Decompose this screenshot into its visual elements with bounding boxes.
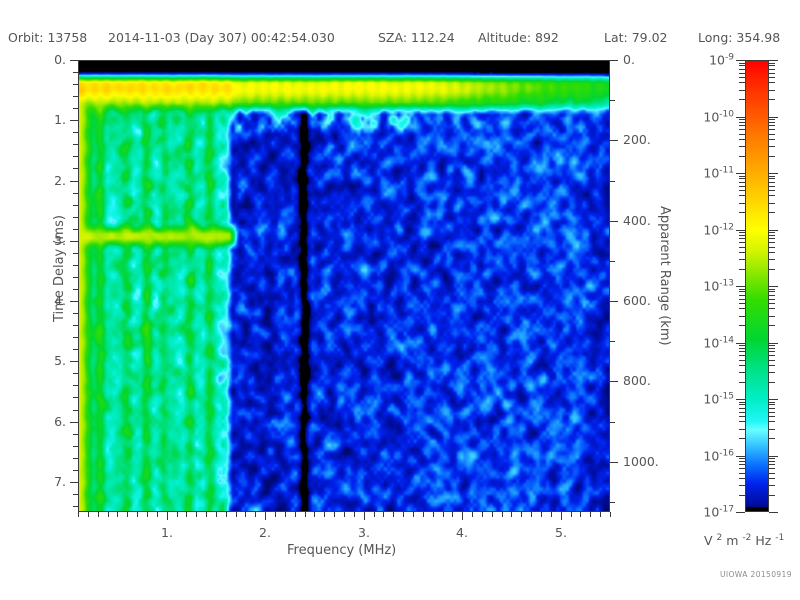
x-tick-minor xyxy=(383,512,384,517)
y-axis-time-delay: Time Delay (ms) 0.1.2.3.4.5.6.7. xyxy=(78,60,79,512)
x-tick-minor xyxy=(324,512,325,517)
colorbar-tick-minor xyxy=(769,252,775,253)
colorbar-tick-minor xyxy=(769,382,775,383)
y2-axis-label: Apparent Range (km) xyxy=(657,206,672,346)
y-tick-minor xyxy=(73,446,78,447)
colorbar-tick-minor xyxy=(739,295,745,296)
colorbar-tick-label: 10-12 xyxy=(703,222,734,237)
colorbar-tick-minor xyxy=(769,295,775,296)
y2-tick-minor xyxy=(610,422,615,423)
colorbar-tick-major xyxy=(769,173,778,174)
colorbar-tick-minor xyxy=(739,122,745,123)
colorbar-tick-label: 10-14 xyxy=(703,335,734,350)
y-tick-minor xyxy=(73,205,78,206)
y-tick-minor xyxy=(73,325,78,326)
x-tick-minor xyxy=(88,512,89,517)
x-tick-minor xyxy=(443,512,444,517)
colorbar-tick-minor xyxy=(739,412,745,413)
colorbar-tick-minor xyxy=(739,408,745,409)
colorbar-tick-minor xyxy=(769,82,775,83)
y-tick-label: 4. xyxy=(32,293,66,308)
colorbar-tick-minor xyxy=(769,473,775,474)
x-tick-minor xyxy=(117,512,118,517)
y-tick-minor xyxy=(73,397,78,398)
colorbar-tick-minor xyxy=(739,119,745,120)
x-tick-minor xyxy=(433,512,434,517)
y2-tick-label: 800. xyxy=(623,373,651,388)
colorbar-tick-major xyxy=(769,117,778,118)
colorbar-tick-minor xyxy=(739,139,745,140)
colorbar-tick-minor xyxy=(769,355,775,356)
colorbar-tick-minor xyxy=(769,461,775,462)
y2-tick-label: 0. xyxy=(623,52,635,67)
colorbar-tick-minor xyxy=(739,65,745,66)
x-tick-minor xyxy=(186,512,187,517)
x-tick-minor xyxy=(423,512,424,517)
colorbar-tick-minor xyxy=(769,63,775,64)
colorbar-tick-minor xyxy=(769,242,775,243)
x-tick-minor xyxy=(413,512,414,517)
colorbar-tick-minor xyxy=(739,252,745,253)
x-tick-minor xyxy=(590,512,591,517)
x-tick-minor xyxy=(98,512,99,517)
x-tick-minor xyxy=(157,512,158,517)
y2-tick-major xyxy=(610,462,618,463)
colorbar-tick-minor xyxy=(739,176,745,177)
colorbar-tick-minor xyxy=(769,119,775,120)
x-tick-minor xyxy=(492,512,493,517)
colorbar: 10-910-1010-1110-1210-1310-1410-1510-161… xyxy=(745,60,769,512)
y-tick-minor xyxy=(73,132,78,133)
x-tick-minor xyxy=(255,512,256,517)
x-tick-minor xyxy=(127,512,128,517)
header-latitude: Lat: 79.02 xyxy=(604,30,668,45)
y-tick-major xyxy=(70,60,78,61)
x-tick-minor xyxy=(245,512,246,517)
colorbar-tick-minor xyxy=(769,325,775,326)
x-tick-minor xyxy=(610,512,611,517)
x-tick-minor xyxy=(452,512,453,517)
colorbar-tick-label: 10-16 xyxy=(703,448,734,463)
y-tick-minor xyxy=(73,168,78,169)
colorbar-tick-minor xyxy=(769,190,775,191)
y-tick-major xyxy=(70,301,78,302)
colorbar-tick-minor xyxy=(739,345,745,346)
x-tick-minor xyxy=(531,512,532,517)
colorbar-tick-minor xyxy=(769,345,775,346)
colorbar-tick-minor xyxy=(769,186,775,187)
colorbar-tick-minor xyxy=(769,134,775,135)
y2-tick-major xyxy=(610,381,618,382)
x-tick-minor xyxy=(521,512,522,517)
colorbar-tick-minor xyxy=(739,90,745,91)
metadata-header: Orbit: 13758 2014-11-03 (Day 307) 00:42:… xyxy=(0,30,800,48)
x-tick-minor xyxy=(334,512,335,517)
colorbar-tick-minor xyxy=(739,247,745,248)
colorbar-tick-minor xyxy=(769,404,775,405)
colorbar-tick-major xyxy=(769,399,778,400)
colorbar-tick-minor xyxy=(769,156,775,157)
y-tick-label: 7. xyxy=(32,474,66,489)
colorbar-tick-major xyxy=(736,230,745,231)
colorbar-tick-minor xyxy=(739,186,745,187)
y2-tick-minor xyxy=(610,341,615,342)
colorbar-tick-minor xyxy=(769,90,775,91)
colorbar-tick-minor xyxy=(739,360,745,361)
colorbar-tick-major xyxy=(736,343,745,344)
y2-tick-minor xyxy=(610,261,615,262)
colorbar-tick-label: 10-13 xyxy=(703,278,734,293)
colorbar-tick-minor xyxy=(769,412,775,413)
colorbar-tick-major xyxy=(769,343,778,344)
colorbar-tick-minor xyxy=(739,195,745,196)
colorbar-tick-minor xyxy=(739,316,745,317)
colorbar-tick-minor xyxy=(739,182,745,183)
colorbar-tick-minor xyxy=(739,291,745,292)
colorbar-tick-minor xyxy=(769,348,775,349)
colorbar-tick-minor xyxy=(769,365,775,366)
colorbar-tick-minor xyxy=(739,259,745,260)
colorbar-tick-minor xyxy=(769,77,775,78)
y-tick-major xyxy=(70,482,78,483)
x-tick-label: 5. xyxy=(549,525,573,540)
colorbar-tick-minor xyxy=(739,232,745,233)
x-tick-minor xyxy=(511,512,512,517)
y-tick-minor xyxy=(73,349,78,350)
colorbar-tick-minor xyxy=(739,63,745,64)
colorbar-tick-minor xyxy=(769,316,775,317)
colorbar-tick-minor xyxy=(739,351,745,352)
colorbar-tick-minor xyxy=(739,478,745,479)
colorbar-tick-label: 10-17 xyxy=(703,504,734,519)
x-tick-minor xyxy=(305,512,306,517)
colorbar-tick-minor xyxy=(769,195,775,196)
y-tick-minor xyxy=(73,458,78,459)
header-altitude: Altitude: 892 xyxy=(478,30,559,45)
y-tick-major xyxy=(70,120,78,121)
colorbar-tick-major xyxy=(769,512,778,513)
x-tick-major xyxy=(561,512,562,520)
x-tick-minor xyxy=(226,512,227,517)
colorbar-tick-minor xyxy=(739,402,745,403)
y-tick-minor xyxy=(73,337,78,338)
colorbar-tick-label: 10-10 xyxy=(703,109,734,124)
colorbar-tick-major xyxy=(736,399,745,400)
y-tick-minor xyxy=(73,108,78,109)
y-tick-minor xyxy=(73,84,78,85)
colorbar-tick-minor xyxy=(769,458,775,459)
y2-tick-major xyxy=(610,60,618,61)
colorbar-tick-minor xyxy=(739,69,745,70)
y-tick-minor xyxy=(73,434,78,435)
x-tick-minor xyxy=(206,512,207,517)
colorbar-tick-minor xyxy=(769,485,775,486)
y-tick-minor xyxy=(73,193,78,194)
x-tick-label: 3. xyxy=(352,525,376,540)
colorbar-tick-minor xyxy=(769,73,775,74)
colorbar-tick-minor xyxy=(739,146,745,147)
colorbar-tick-minor xyxy=(739,99,745,100)
colorbar-tick-minor xyxy=(739,156,745,157)
y2-tick-minor xyxy=(610,100,615,101)
colorbar-tick-label: 10-15 xyxy=(703,391,734,406)
colorbar-tick-minor xyxy=(739,303,745,304)
y-tick-minor xyxy=(73,470,78,471)
colorbar-tick-minor xyxy=(739,129,745,130)
colorbar-tick-minor xyxy=(739,458,745,459)
colorbar-tick-major xyxy=(736,60,745,61)
colorbar-tick-minor xyxy=(739,203,745,204)
x-tick-minor xyxy=(314,512,315,517)
colorbar-tick-minor xyxy=(769,182,775,183)
colorbar-tick-major xyxy=(736,512,745,513)
y2-tick-minor xyxy=(610,502,615,503)
x-tick-label: 4. xyxy=(450,525,474,540)
y-tick-label: 1. xyxy=(32,112,66,127)
colorbar-tick-minor xyxy=(739,289,745,290)
colorbar-tick-minor xyxy=(769,360,775,361)
y-tick-label: 3. xyxy=(32,233,66,248)
colorbar-tick-minor xyxy=(769,125,775,126)
colorbar-tick-minor xyxy=(769,122,775,123)
header-orbit: Orbit: 13758 xyxy=(8,30,87,45)
colorbar-tick-minor xyxy=(739,464,745,465)
colorbar-tick-minor xyxy=(739,365,745,366)
colorbar-tick-minor xyxy=(769,235,775,236)
colorbar-tick-minor xyxy=(769,259,775,260)
y-tick-minor xyxy=(73,289,78,290)
y-tick-minor xyxy=(73,277,78,278)
colorbar-tick-minor xyxy=(739,468,745,469)
colorbar-tick-minor xyxy=(739,325,745,326)
colorbar-tick-minor xyxy=(739,212,745,213)
x-tick-minor xyxy=(502,512,503,517)
x-axis-frequency: 1.2.3.4.5. xyxy=(78,512,610,513)
x-tick-label: 2. xyxy=(253,525,277,540)
colorbar-tick-minor xyxy=(739,299,745,300)
colorbar-gradient xyxy=(745,60,769,512)
colorbar-tick-minor xyxy=(739,372,745,373)
x-tick-minor xyxy=(78,512,79,517)
y-tick-minor xyxy=(73,144,78,145)
colorbar-tick-minor xyxy=(739,495,745,496)
colorbar-tick-minor xyxy=(739,242,745,243)
colorbar-tick-minor xyxy=(739,308,745,309)
colorbar-tick-minor xyxy=(739,404,745,405)
y-tick-major xyxy=(70,361,78,362)
y2-tick-major xyxy=(610,301,618,302)
colorbar-tick-minor xyxy=(739,134,745,135)
colorbar-tick-label: 10-9 xyxy=(709,52,734,67)
colorbar-tick-major xyxy=(769,60,778,61)
y-tick-label: 0. xyxy=(32,52,66,67)
colorbar-tick-minor xyxy=(739,473,745,474)
x-tick-minor xyxy=(541,512,542,517)
x-tick-minor xyxy=(482,512,483,517)
x-tick-minor xyxy=(216,512,217,517)
y2-tick-label: 200. xyxy=(623,132,651,147)
y-tick-minor xyxy=(73,410,78,411)
x-tick-minor xyxy=(177,512,178,517)
x-tick-minor xyxy=(571,512,572,517)
colorbar-black-cap xyxy=(745,507,769,512)
colorbar-tick-minor xyxy=(739,348,745,349)
colorbar-tick-minor xyxy=(769,429,775,430)
colorbar-tick-major xyxy=(769,230,778,231)
y2-tick-minor xyxy=(610,181,615,182)
y-tick-label: 6. xyxy=(32,414,66,429)
colorbar-tick-minor xyxy=(739,238,745,239)
colorbar-tick-minor xyxy=(739,190,745,191)
header-datetime: 2014-11-03 (Day 307) 00:42:54.030 xyxy=(108,30,335,45)
colorbar-tick-major xyxy=(736,117,745,118)
colorbar-tick-minor xyxy=(739,485,745,486)
y-tick-minor xyxy=(73,373,78,374)
x-tick-major xyxy=(265,512,266,520)
colorbar-tick-minor xyxy=(769,308,775,309)
x-tick-minor xyxy=(275,512,276,517)
colorbar-tick-minor xyxy=(769,402,775,403)
ionogram-plot-area xyxy=(78,60,610,512)
y-tick-minor xyxy=(73,385,78,386)
colorbar-tick-minor xyxy=(739,382,745,383)
x-tick-minor xyxy=(295,512,296,517)
x-tick-minor xyxy=(472,512,473,517)
colorbar-tick-minor xyxy=(769,65,775,66)
colorbar-tick-minor xyxy=(769,247,775,248)
colorbar-tick-major xyxy=(769,286,778,287)
colorbar-tick-minor xyxy=(739,438,745,439)
x-tick-minor xyxy=(374,512,375,517)
colorbar-tick-minor xyxy=(769,69,775,70)
colorbar-tick-minor xyxy=(769,139,775,140)
colorbar-tick-minor xyxy=(769,232,775,233)
colorbar-tick-minor xyxy=(769,478,775,479)
y-tick-minor xyxy=(73,506,78,507)
colorbar-tick-minor xyxy=(739,269,745,270)
y2-tick-label: 1000. xyxy=(623,454,659,469)
x-tick-minor xyxy=(580,512,581,517)
colorbar-tick-major xyxy=(736,173,745,174)
colorbar-tick-minor xyxy=(769,269,775,270)
colorbar-tick-minor xyxy=(769,146,775,147)
colorbar-tick-minor xyxy=(769,178,775,179)
colorbar-tick-minor xyxy=(769,421,775,422)
colorbar-tick-minor xyxy=(769,99,775,100)
x-tick-minor xyxy=(137,512,138,517)
y-tick-major xyxy=(70,181,78,182)
y-tick-major xyxy=(70,241,78,242)
colorbar-tick-minor xyxy=(769,203,775,204)
x-tick-major xyxy=(364,512,365,520)
colorbar-tick-minor xyxy=(739,125,745,126)
colorbar-tick-minor xyxy=(739,77,745,78)
colorbar-tick-minor xyxy=(769,291,775,292)
x-tick-minor xyxy=(147,512,148,517)
colorbar-tick-minor xyxy=(769,416,775,417)
colorbar-unit-label: V 2 m -2 Hz -1 xyxy=(704,533,784,548)
colorbar-tick-minor xyxy=(739,82,745,83)
x-tick-minor xyxy=(196,512,197,517)
colorbar-tick-minor xyxy=(739,355,745,356)
colorbar-tick-minor xyxy=(739,421,745,422)
x-tick-label: 1. xyxy=(155,525,179,540)
x-tick-major xyxy=(167,512,168,520)
colorbar-tick-minor xyxy=(769,351,775,352)
x-tick-minor xyxy=(600,512,601,517)
y-tick-label: 2. xyxy=(32,173,66,188)
header-longitude: Long: 354.98 xyxy=(698,30,780,45)
x-tick-minor xyxy=(393,512,394,517)
y-axis-apparent-range: 0.200.400.600.800.1000. xyxy=(610,60,611,512)
colorbar-tick-minor xyxy=(769,438,775,439)
credit-footer: UIOWA 20150919 xyxy=(720,570,792,579)
y-tick-label: 5. xyxy=(32,353,66,368)
y-tick-minor xyxy=(73,494,78,495)
spectrogram-heatmap xyxy=(79,61,609,511)
colorbar-tick-minor xyxy=(769,303,775,304)
colorbar-tick-minor xyxy=(769,129,775,130)
colorbar-tick-minor xyxy=(769,468,775,469)
y-tick-minor xyxy=(73,313,78,314)
x-axis-label: Frequency (MHz) xyxy=(287,543,396,558)
colorbar-tick-minor xyxy=(769,464,775,465)
colorbar-tick-minor xyxy=(769,299,775,300)
colorbar-tick-minor xyxy=(769,212,775,213)
colorbar-tick-minor xyxy=(769,289,775,290)
header-sza: SZA: 112.24 xyxy=(378,30,455,45)
y2-tick-label: 600. xyxy=(623,293,651,308)
colorbar-tick-label: 10-11 xyxy=(703,165,734,180)
colorbar-tick-minor xyxy=(769,176,775,177)
x-tick-minor xyxy=(354,512,355,517)
colorbar-tick-major xyxy=(769,456,778,457)
colorbar-tick-minor xyxy=(769,372,775,373)
colorbar-tick-minor xyxy=(769,408,775,409)
colorbar-tick-minor xyxy=(739,73,745,74)
colorbar-tick-minor xyxy=(769,238,775,239)
colorbar-tick-minor xyxy=(739,416,745,417)
colorbar-tick-minor xyxy=(739,235,745,236)
colorbar-tick-major xyxy=(736,286,745,287)
y2-tick-major xyxy=(610,140,618,141)
colorbar-tick-minor xyxy=(739,429,745,430)
x-tick-minor xyxy=(403,512,404,517)
colorbar-tick-minor xyxy=(739,178,745,179)
y2-tick-major xyxy=(610,221,618,222)
x-tick-minor xyxy=(108,512,109,517)
y2-tick-label: 400. xyxy=(623,213,651,228)
x-tick-minor xyxy=(285,512,286,517)
colorbar-tick-minor xyxy=(769,495,775,496)
y-tick-minor xyxy=(73,156,78,157)
x-tick-major xyxy=(462,512,463,520)
y-tick-major xyxy=(70,422,78,423)
x-tick-minor xyxy=(551,512,552,517)
y-tick-minor xyxy=(73,265,78,266)
colorbar-tick-minor xyxy=(739,461,745,462)
colorbar-tick-major xyxy=(736,456,745,457)
y-tick-minor xyxy=(73,217,78,218)
x-tick-minor xyxy=(344,512,345,517)
y-tick-minor xyxy=(73,72,78,73)
y-tick-minor xyxy=(73,253,78,254)
y-tick-minor xyxy=(73,96,78,97)
x-tick-minor xyxy=(236,512,237,517)
y-tick-minor xyxy=(73,229,78,230)
